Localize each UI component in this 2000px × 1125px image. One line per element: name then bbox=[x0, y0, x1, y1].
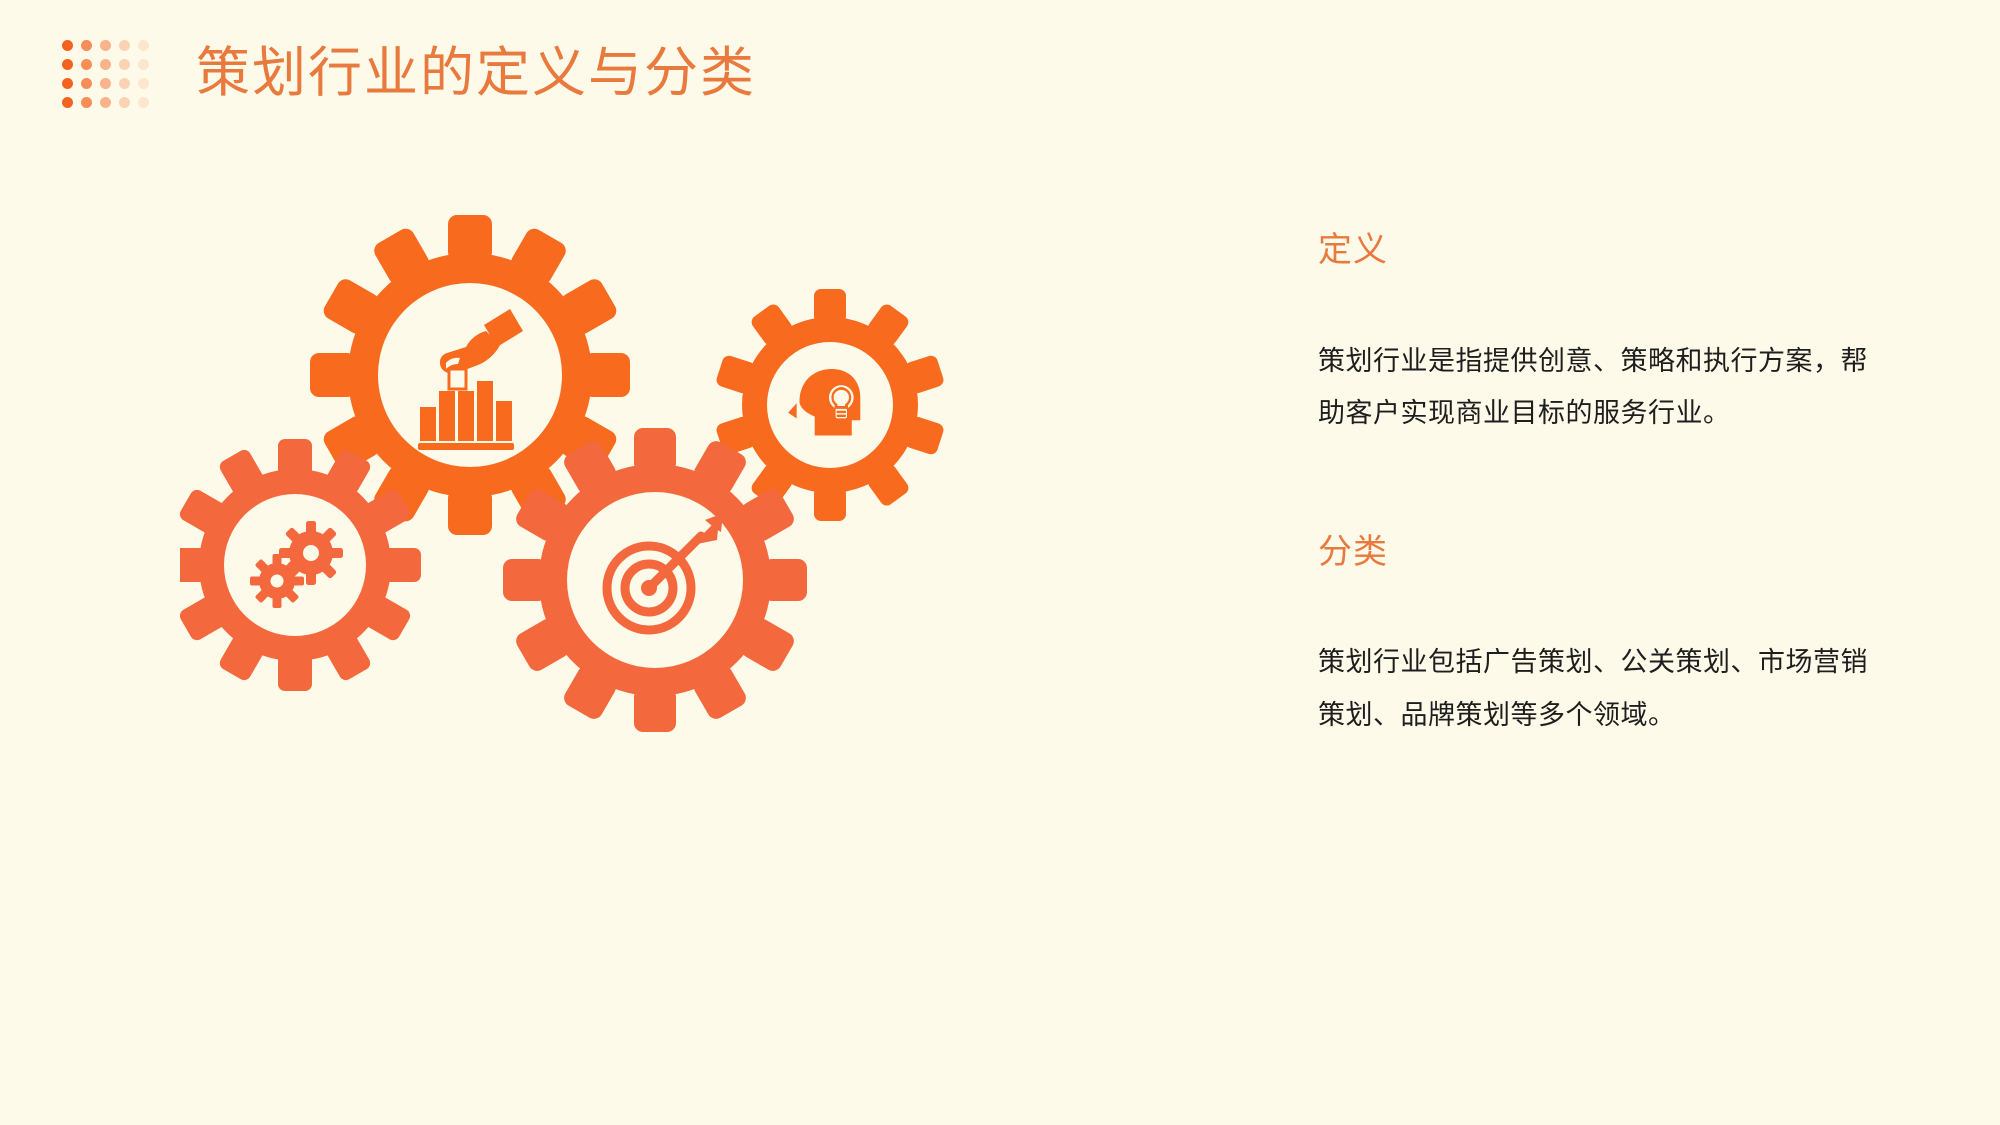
decoration-dot bbox=[138, 78, 149, 89]
decoration-dot bbox=[62, 40, 73, 51]
content-block-classification: 分类 策划行业包括广告策划、公关策划、市场营销策划、品牌策划等多个领域。 bbox=[1318, 532, 1918, 742]
decoration-dot bbox=[100, 78, 111, 89]
slide-header: 策划行业的定义与分类 bbox=[0, 0, 2000, 150]
content-block-definition: 定义 策划行业是指提供创意、策略和执行方案，帮助客户实现商业目标的服务行业。 bbox=[1318, 230, 1918, 440]
decoration-dot bbox=[81, 40, 92, 51]
decoration-dot bbox=[62, 78, 73, 89]
decoration-dot bbox=[81, 97, 92, 108]
slide-canvas: 策划行业的定义与分类 bbox=[0, 0, 2000, 1125]
decoration-dot bbox=[100, 59, 111, 70]
definition-heading: 定义 bbox=[1318, 230, 1918, 273]
decoration-dot bbox=[119, 78, 130, 89]
classification-heading: 分类 bbox=[1318, 532, 1918, 575]
decoration-dot bbox=[62, 59, 73, 70]
decoration-dot bbox=[138, 40, 149, 51]
dot-matrix-decoration bbox=[62, 36, 158, 112]
gear-mechanism bbox=[180, 439, 421, 691]
interlocking-gears-illustration bbox=[180, 210, 1010, 830]
definition-body: 策划行业是指提供创意、策略和执行方案，帮助客户实现商业目标的服务行业。 bbox=[1318, 335, 1878, 440]
decoration-dot bbox=[119, 40, 130, 51]
decoration-dot bbox=[100, 97, 111, 108]
page-title: 策划行业的定义与分类 bbox=[196, 42, 756, 105]
decoration-dot bbox=[62, 97, 73, 108]
decoration-dot bbox=[81, 59, 92, 70]
decoration-dot bbox=[119, 97, 130, 108]
decoration-dot bbox=[119, 59, 130, 70]
gear-idea bbox=[715, 289, 946, 521]
decoration-dot bbox=[138, 97, 149, 108]
content-column: 定义 策划行业是指提供创意、策略和执行方案，帮助客户实现商业目标的服务行业。 分… bbox=[1318, 230, 1918, 742]
decoration-dot bbox=[100, 40, 111, 51]
decoration-dot bbox=[138, 59, 149, 70]
decoration-dot bbox=[81, 78, 92, 89]
classification-body: 策划行业包括广告策划、公关策划、市场营销策划、品牌策划等多个领域。 bbox=[1318, 636, 1878, 741]
